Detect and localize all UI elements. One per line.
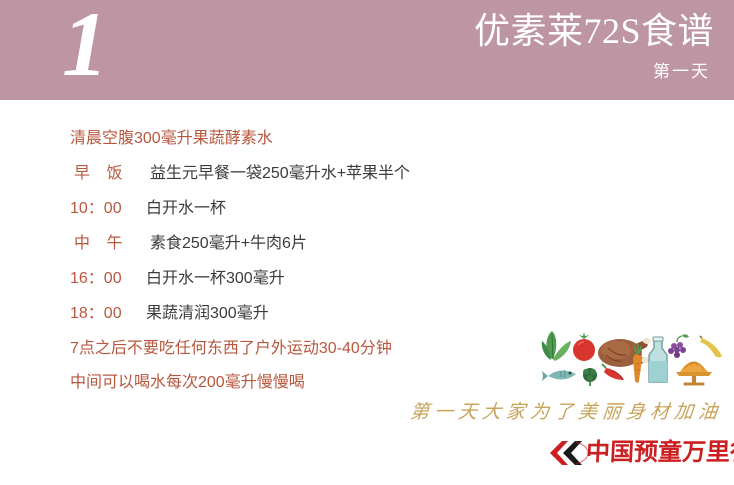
schedule-row-text: 清晨空腹300毫升果蔬酵素水: [70, 124, 273, 148]
schedule-row-label: 16：00: [70, 264, 132, 288]
page-subtitle: 第一天: [474, 60, 714, 84]
poster-header: 1 优素莱72S食谱 第一天: [0, 0, 734, 100]
schedule-row-text: 素食250毫升+牛肉6片: [150, 229, 307, 253]
brand-logo: 中国预童万里行: [548, 436, 734, 470]
page-title: 优素莱72S食谱: [474, 8, 714, 54]
fish-icon: [542, 370, 576, 381]
schedule-row-label: 早 饭: [70, 159, 136, 183]
schedule-row-text: 白开水一杯300毫升: [146, 264, 285, 288]
leafy-green-icon: [542, 331, 571, 361]
schedule-row-label: 中 午: [70, 229, 136, 253]
note-text: 7点之后不要吃任何东西了户外运动30-40分钟: [70, 340, 392, 357]
logo-text: 中国预童万里行: [585, 438, 734, 468]
day-number: 1: [62, 0, 108, 94]
calligraphy-slogan: 第一天大家为了美丽身材加油: [410, 398, 710, 432]
grapes-icon: [668, 334, 689, 358]
double-chevron-mark: [548, 439, 590, 467]
schedule-row-text: 果蔬清润300毫升: [146, 299, 269, 323]
header-title-group: 优素莱72S食谱 第一天: [474, 8, 714, 84]
recipe-poster: 1 优素莱72S食谱 第一天 清晨空腹300毫升果蔬酵素水 早 饭 益生元早餐一…: [0, 0, 734, 485]
note-text: 中间可以喝水每次200毫升慢慢喝: [70, 374, 305, 391]
schedule-row: 10：00 白开水一杯: [70, 194, 630, 229]
food-illustration: [540, 328, 730, 388]
pie-on-stand-icon: [676, 362, 712, 384]
bottle-icon: [649, 337, 667, 382]
schedule-row: 中 午 素食250毫升+牛肉6片: [70, 229, 630, 264]
banana-icon: [700, 336, 722, 358]
roast-turkey-icon: [598, 338, 651, 367]
tomato-icon: [573, 332, 595, 361]
calligraphy-text: 第一天大家为了美丽身材加油: [408, 398, 711, 428]
schedule-row-label: 18：00: [70, 299, 132, 323]
schedule-row: 16：00 白开水一杯300毫升: [70, 264, 630, 299]
schedule-row-text: 益生元早餐一袋250毫升水+苹果半个: [150, 159, 410, 183]
schedule-row-text: 白开水一杯: [146, 194, 226, 218]
schedule-row-label: 10：00: [70, 194, 132, 218]
schedule-row: 清晨空腹300毫升果蔬酵素水: [70, 124, 630, 159]
broccoli-icon: [583, 368, 597, 386]
schedule-row: 早 饭 益生元早餐一袋250毫升水+苹果半个: [70, 159, 630, 194]
